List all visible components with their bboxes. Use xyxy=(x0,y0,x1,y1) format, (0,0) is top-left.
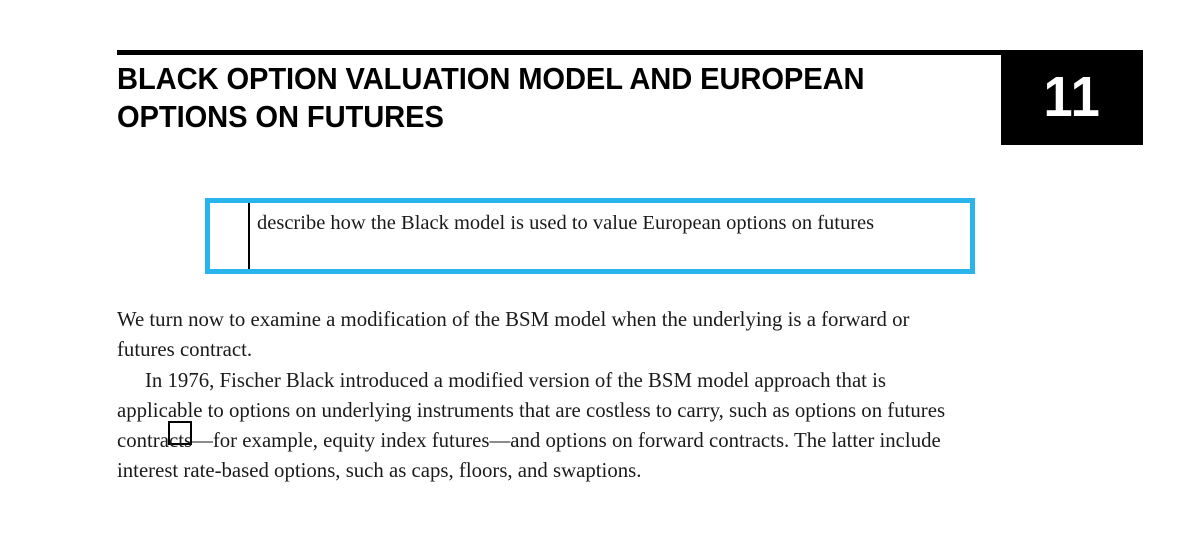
chapter-number-label: 11 xyxy=(1043,69,1100,126)
header-rule xyxy=(117,50,1001,55)
learning-outcome-box: describe how the Black model is used to … xyxy=(205,198,975,274)
body-copy: We turn now to examine a modification of… xyxy=(117,305,965,487)
learning-outcome-divider xyxy=(248,203,250,269)
page-title: BLACK OPTION VALUATION MODEL AND EUROPEA… xyxy=(117,60,938,136)
chapter-header: BLACK OPTION VALUATION MODEL AND EUROPEA… xyxy=(0,0,1187,160)
learning-outcome-text: describe how the Black model is used to … xyxy=(257,208,962,238)
body-paragraph-2: In 1976, Fischer Black introduced a modi… xyxy=(117,366,965,487)
body-paragraph-1: We turn now to examine a modification of… xyxy=(117,305,965,366)
chapter-number-badge: 11 xyxy=(1001,50,1143,145)
learning-outcome-row: describe how the Black model is used to … xyxy=(0,198,1187,278)
